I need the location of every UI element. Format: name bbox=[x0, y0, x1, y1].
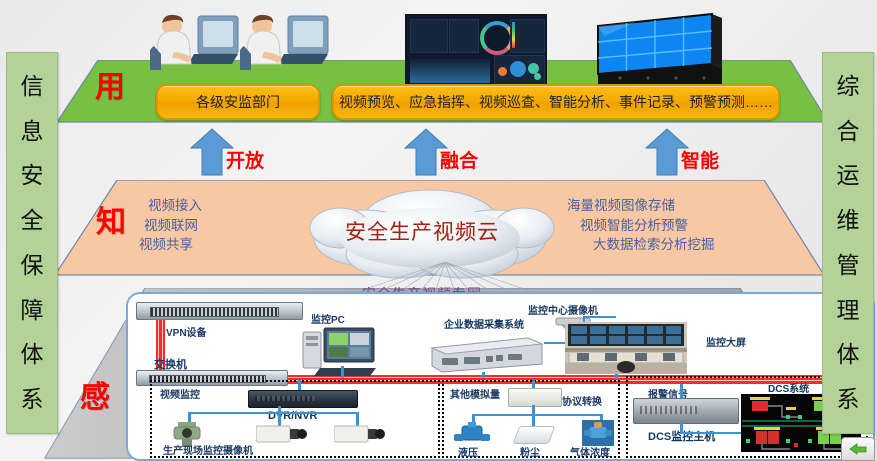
box-camera-icon-1 bbox=[256, 424, 308, 446]
dvr-nvr-icon bbox=[248, 390, 358, 408]
hydraulic-label: 液压 bbox=[458, 444, 478, 459]
vpn-device-icon bbox=[136, 302, 303, 320]
dust-label: 粉尘 bbox=[520, 444, 540, 459]
dcs-host-icon bbox=[633, 398, 739, 424]
layer-label-know: 知 bbox=[96, 197, 126, 241]
analog-group-title: 其他模拟量 bbox=[450, 386, 500, 401]
data-collection-system-label: 企业数据采集系统 bbox=[444, 316, 524, 331]
banner-left-char-4: 全 bbox=[21, 209, 44, 232]
infrastructure-panel: VPN设备 交换机 监控PC bbox=[126, 292, 875, 461]
banner-right-char-5: 管 bbox=[837, 254, 860, 277]
video-surveillance-title: 视频监控 bbox=[160, 386, 200, 401]
bi-dashboard-illustration bbox=[405, 14, 547, 88]
banner-integrated-ops: 综 合 运 维 管 理 体 系 bbox=[822, 52, 874, 434]
operator-illustration-1 bbox=[150, 10, 240, 72]
arrow-merge-label: 融合 bbox=[440, 146, 478, 173]
banner-right-char-3: 运 bbox=[837, 164, 860, 187]
banner-left-char-8: 系 bbox=[21, 388, 44, 411]
banner-right-char-2: 合 bbox=[837, 120, 860, 143]
cloud-right-items: 海量视频图像存储 视频智能分析预警 大数据检索分析挖掘 bbox=[567, 196, 767, 255]
banner-right-char-6: 理 bbox=[837, 299, 860, 322]
banner-left-char-2: 息 bbox=[21, 120, 44, 143]
diagram-canvas: 用 知 感 bbox=[0, 0, 877, 461]
video-wall-label: 监控大屏 bbox=[706, 334, 746, 349]
cloud-left-item-1: 视频接入 bbox=[148, 196, 202, 216]
monitor-pc-label: 监控PC bbox=[311, 311, 345, 326]
cloud-left-item-3: 视频共享 bbox=[130, 235, 202, 255]
gas-density-label: 气体浓度 bbox=[570, 444, 610, 459]
green-back-arrow-glyph bbox=[849, 443, 867, 455]
dept-box-label: 各级安监部门 bbox=[196, 92, 280, 112]
dcs-system-label: DCS系统 bbox=[768, 380, 809, 395]
banner-right-char-4: 维 bbox=[837, 209, 860, 232]
control-room-video-wall bbox=[565, 322, 687, 374]
cloud-title: 安全生产视频云 bbox=[345, 216, 499, 246]
data-collection-system-icon bbox=[424, 332, 544, 374]
gas-sensor-icon bbox=[582, 420, 614, 446]
cloud-right-item-2: 视频智能分析预警 bbox=[580, 216, 767, 236]
banner-left-char-1: 信 bbox=[21, 75, 44, 98]
switch-label: 交换机 bbox=[154, 356, 187, 372]
protocol-converter-icon bbox=[508, 388, 562, 407]
box-camera-icon-2 bbox=[334, 424, 386, 446]
cloud-left-items: 视频接入 视频联网 视频共享 bbox=[148, 196, 202, 255]
banner-left-char-7: 体 bbox=[21, 343, 44, 366]
banner-right-char-7: 体 bbox=[837, 343, 860, 366]
hydraulic-sensor-icon bbox=[454, 422, 490, 446]
dept-box[interactable]: 各级安监部门 bbox=[156, 84, 320, 120]
green-back-arrow-icon[interactable] bbox=[841, 437, 875, 461]
protocol-convert-label: 协议转换 bbox=[562, 393, 602, 408]
banner-right-char-8: 系 bbox=[837, 388, 860, 411]
banner-left-char-5: 保 bbox=[21, 254, 44, 277]
layer-label-use: 用 bbox=[95, 62, 125, 106]
apps-box-label: 视频预览、应急指挥、视频巡查、智能分析、事件记录、预警预测…… bbox=[339, 92, 773, 112]
arrow-open-label: 开放 bbox=[226, 146, 264, 173]
site-cameras-label: 生产现场监控摄像机 bbox=[163, 442, 253, 457]
apps-box[interactable]: 视频预览、应急指挥、视频巡查、智能分析、事件记录、预警预测…… bbox=[332, 84, 780, 120]
center-camera-label: 监控中心摄像机 bbox=[528, 302, 598, 317]
cloud-left-item-2: 视频联网 bbox=[140, 216, 202, 236]
banner-right-char-1: 综 bbox=[837, 75, 860, 98]
operator-illustration-2 bbox=[240, 10, 330, 72]
banner-information-security: 信 息 安 全 保 障 体 系 bbox=[6, 52, 58, 434]
banner-left-char-6: 障 bbox=[21, 299, 44, 322]
layer-label-sense: 感 bbox=[80, 372, 110, 416]
banner-left-char-3: 安 bbox=[21, 164, 44, 187]
arrow-smart-label: 智能 bbox=[681, 146, 719, 173]
vpn-device-label: VPN设备 bbox=[166, 324, 207, 339]
cloud-right-item-3: 大数据检索分析挖掘 bbox=[593, 235, 767, 255]
led-video-wall-illustration bbox=[596, 12, 714, 70]
cloud-right-item-1: 海量视频图像存储 bbox=[567, 196, 767, 216]
